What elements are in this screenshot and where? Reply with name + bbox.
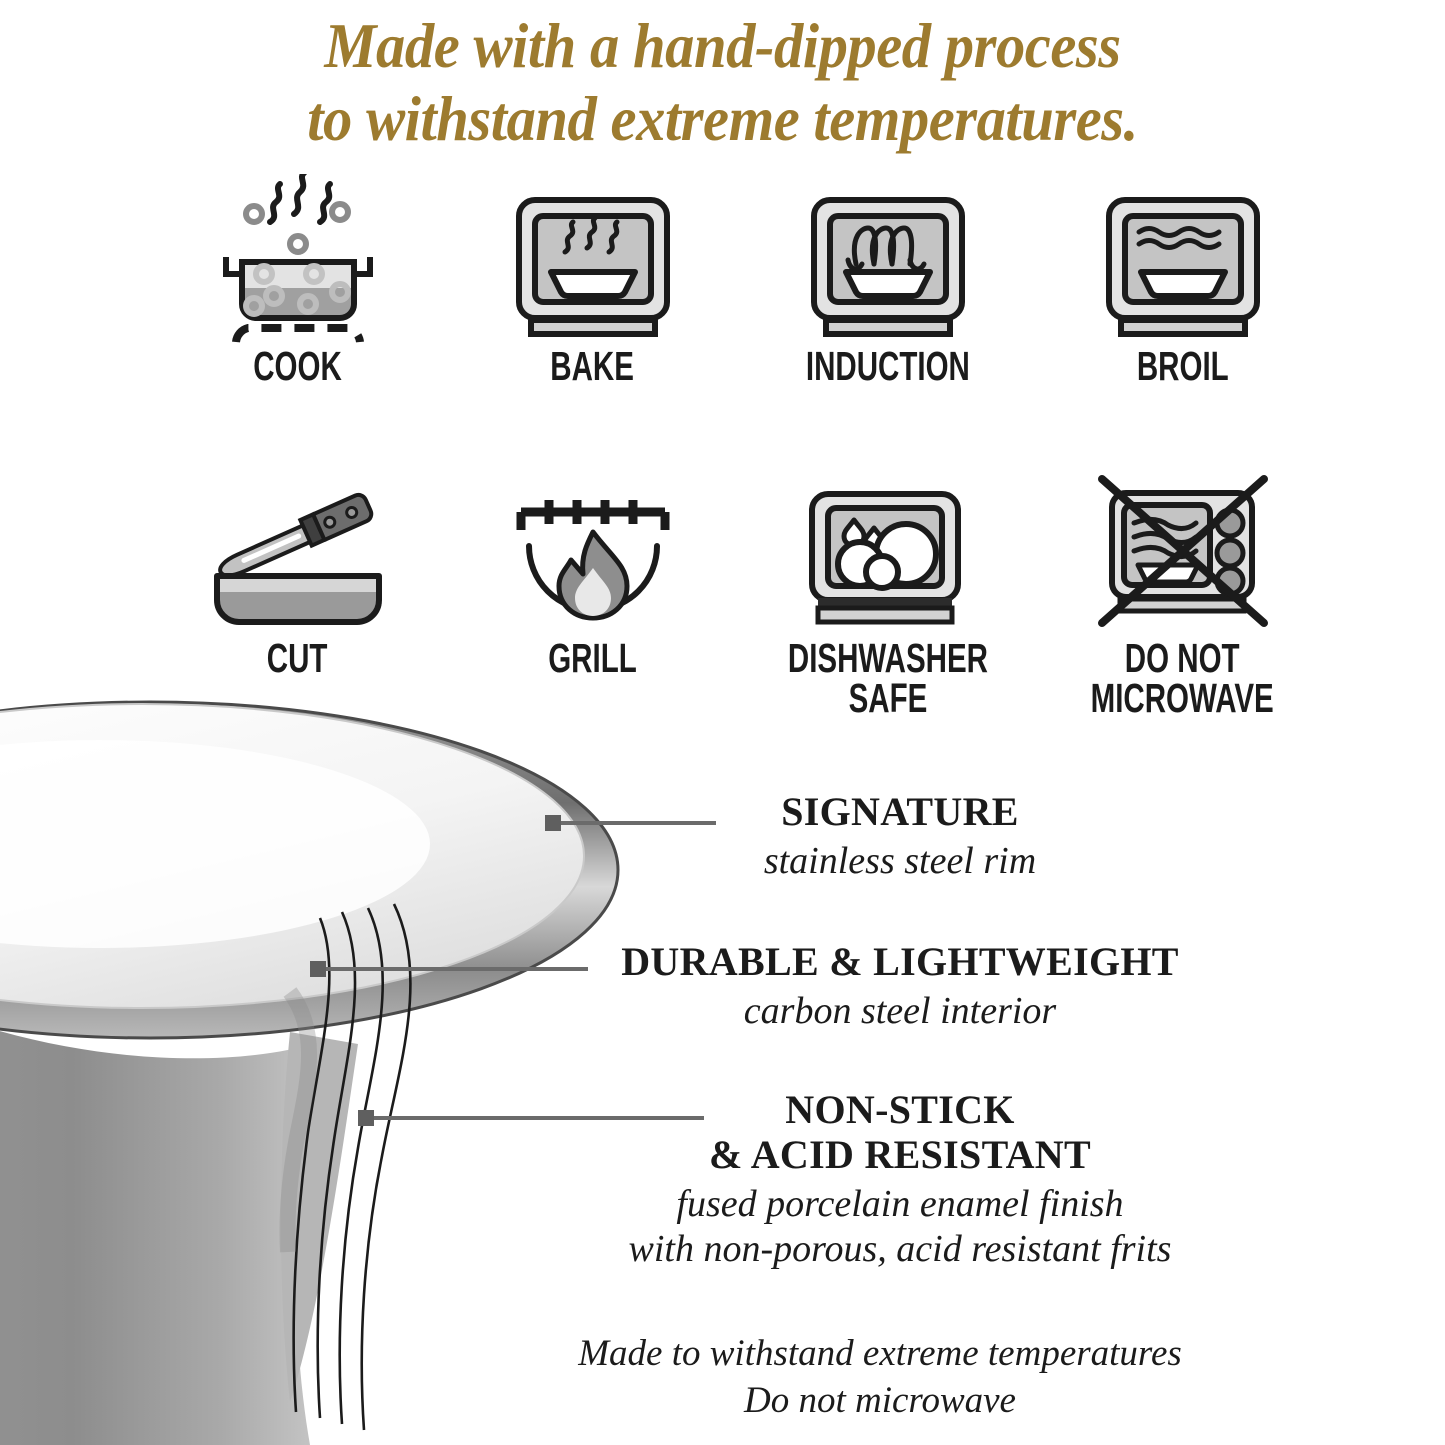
footer-line-2: Do not microwave — [500, 1377, 1260, 1424]
grill-flame-icon — [503, 464, 683, 636]
leader-dot-durable — [310, 961, 326, 977]
callout-nonstick: NON-STICK & ACID RESISTANT fused porcela… — [540, 1088, 1260, 1273]
icon-label-microwave: DO NOT MICROWAVE — [1091, 638, 1274, 718]
callout-durable-subtitle: carbon steel interior — [540, 989, 1260, 1035]
callout-signature-title: SIGNATURE — [620, 790, 1180, 835]
leader-dot-signature — [545, 815, 561, 831]
icon-label-dishwasher: DISHWASHER SAFE — [787, 638, 987, 718]
oven-induction-icon — [798, 172, 978, 344]
callout-nonstick-subtitle-line-1: fused porcelain enamel finish — [540, 1182, 1260, 1228]
dishwasher-safe-icon — [798, 464, 978, 636]
footer-line-1: Made to withstand extreme temperatures — [500, 1330, 1260, 1377]
icon-cell-induction: INDUCTION — [740, 172, 1035, 386]
icon-label-bake: BAKE — [551, 346, 635, 386]
pot-illustration — [0, 612, 630, 1445]
no-microwave-icon — [1090, 464, 1275, 636]
icon-cell-microwave: DO NOT MICROWAVE — [1035, 464, 1330, 718]
product-infographic: Made with a hand-dipped process to withs… — [0, 0, 1445, 1445]
callout-nonstick-subtitle-line-2: with non-porous, acid resistant frits — [540, 1227, 1260, 1273]
icon-label-broil: BROIL — [1137, 346, 1229, 386]
callout-nonstick-title-line-1: NON-STICK — [540, 1088, 1260, 1133]
icon-cell-bake: BAKE — [445, 172, 740, 386]
icon-label-cook: COOK — [253, 346, 342, 386]
callout-durable: DURABLE & LIGHTWEIGHT carbon steel inter… — [540, 940, 1260, 1034]
callout-nonstick-title-line-2: & ACID RESISTANT — [540, 1133, 1260, 1178]
knife-dish-icon — [203, 464, 393, 636]
page-title: Made with a hand-dipped process to withs… — [0, 10, 1445, 156]
callout-signature: SIGNATURE stainless steel rim — [620, 790, 1180, 884]
callout-signature-subtitle: stainless steel rim — [620, 839, 1180, 885]
footer-note: Made to withstand extreme temperatures D… — [500, 1330, 1260, 1425]
icon-row-1: COOK BAKE — [150, 172, 1330, 386]
oven-bake-icon — [503, 172, 683, 344]
oven-broil-icon — [1093, 172, 1273, 344]
icon-cell-broil: BROIL — [1035, 172, 1330, 386]
pot-boiling-icon — [208, 172, 388, 344]
headline-line-2: to withstand extreme temperatures. — [51, 83, 1395, 156]
icon-cell-cook: COOK — [150, 172, 445, 386]
icon-label-induction: INDUCTION — [805, 346, 969, 386]
headline-line-1: Made with a hand-dipped process — [51, 10, 1395, 83]
callout-durable-title: DURABLE & LIGHTWEIGHT — [540, 940, 1260, 985]
leader-dot-nonstick — [358, 1110, 374, 1126]
icon-cell-dishwasher: DISHWASHER SAFE — [740, 464, 1035, 718]
